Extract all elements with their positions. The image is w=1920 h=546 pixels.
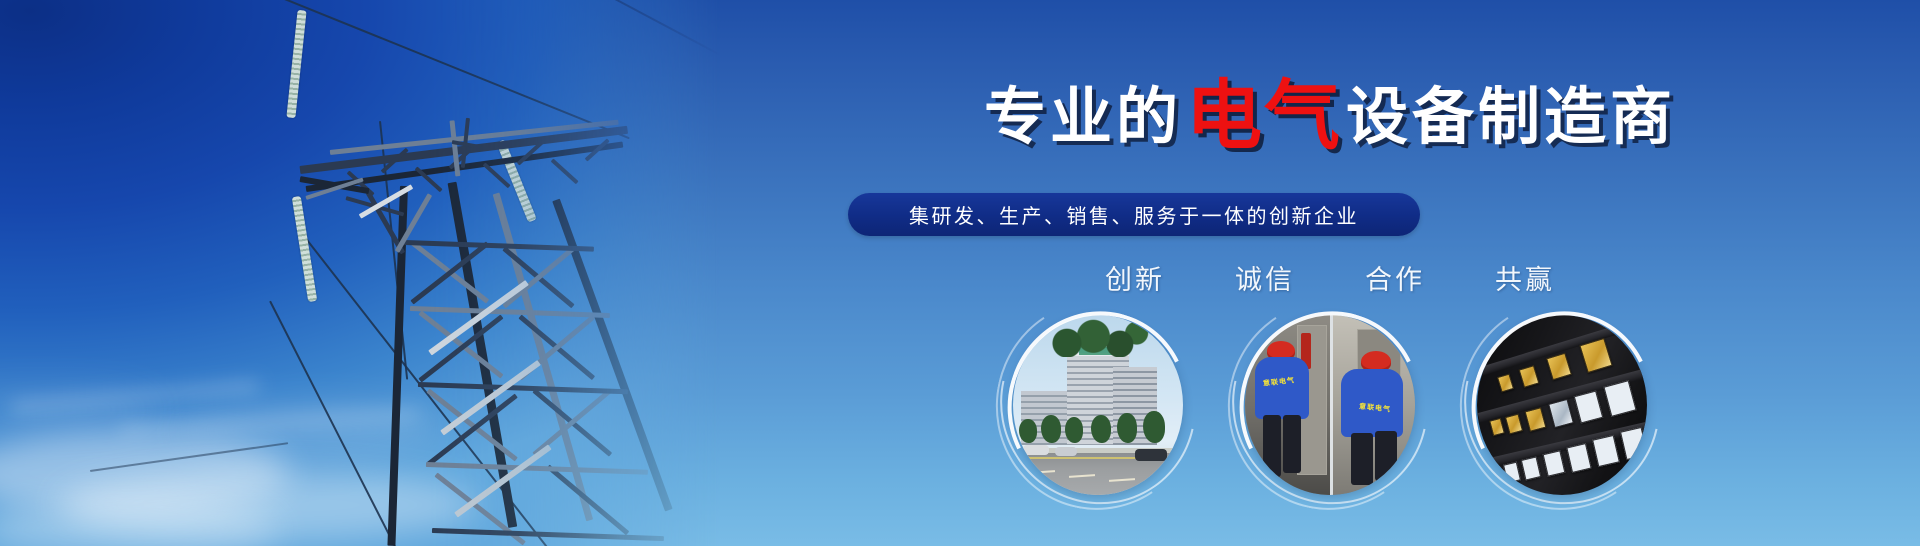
banner-root: 专业的电气设备制造商 集研发、生产、销售、服务于一体的创新企业 创新 诚信 合作… — [0, 0, 1920, 546]
keyword-innovation: 创新 — [1105, 258, 1165, 297]
keyword-integrity: 诚信 — [1235, 258, 1295, 297]
keyword-list: 创新 诚信 合作 共赢 — [740, 258, 1920, 297]
headline-part-2: 设备制造商 — [1346, 80, 1676, 153]
headline-part-1: 专业的 — [984, 80, 1182, 153]
headline-highlight: 电气 — [1186, 71, 1342, 160]
certificates-photo — [1477, 315, 1647, 495]
subtitle-pill: 集研发、生产、销售、服务于一体的创新企业 — [848, 193, 1420, 236]
technicians-photo: 意联电气 意联电气 — [1245, 315, 1415, 495]
office-building-photo — [1013, 315, 1183, 495]
photo-circle-certificates[interactable] — [1477, 315, 1647, 495]
keyword-cooperation: 合作 — [1365, 258, 1425, 297]
photo-circle-office[interactable] — [1013, 315, 1183, 495]
banner-content: 专业的电气设备制造商 集研发、生产、销售、服务于一体的创新企业 创新 诚信 合作… — [740, 0, 1920, 546]
page-title: 专业的电气设备制造商 — [740, 78, 1920, 154]
keyword-winwin: 共赢 — [1495, 258, 1555, 297]
subtitle-pill-label: 集研发、生产、销售、服务于一体的创新企业 — [909, 200, 1359, 229]
transmission-tower-photo — [0, 0, 740, 546]
lattice-tower — [0, 0, 740, 546]
photo-circle-technicians[interactable]: 意联电气 意联电气 — [1245, 315, 1415, 495]
photo-circle-list: 意联电气 意联电气 — [740, 315, 1920, 495]
